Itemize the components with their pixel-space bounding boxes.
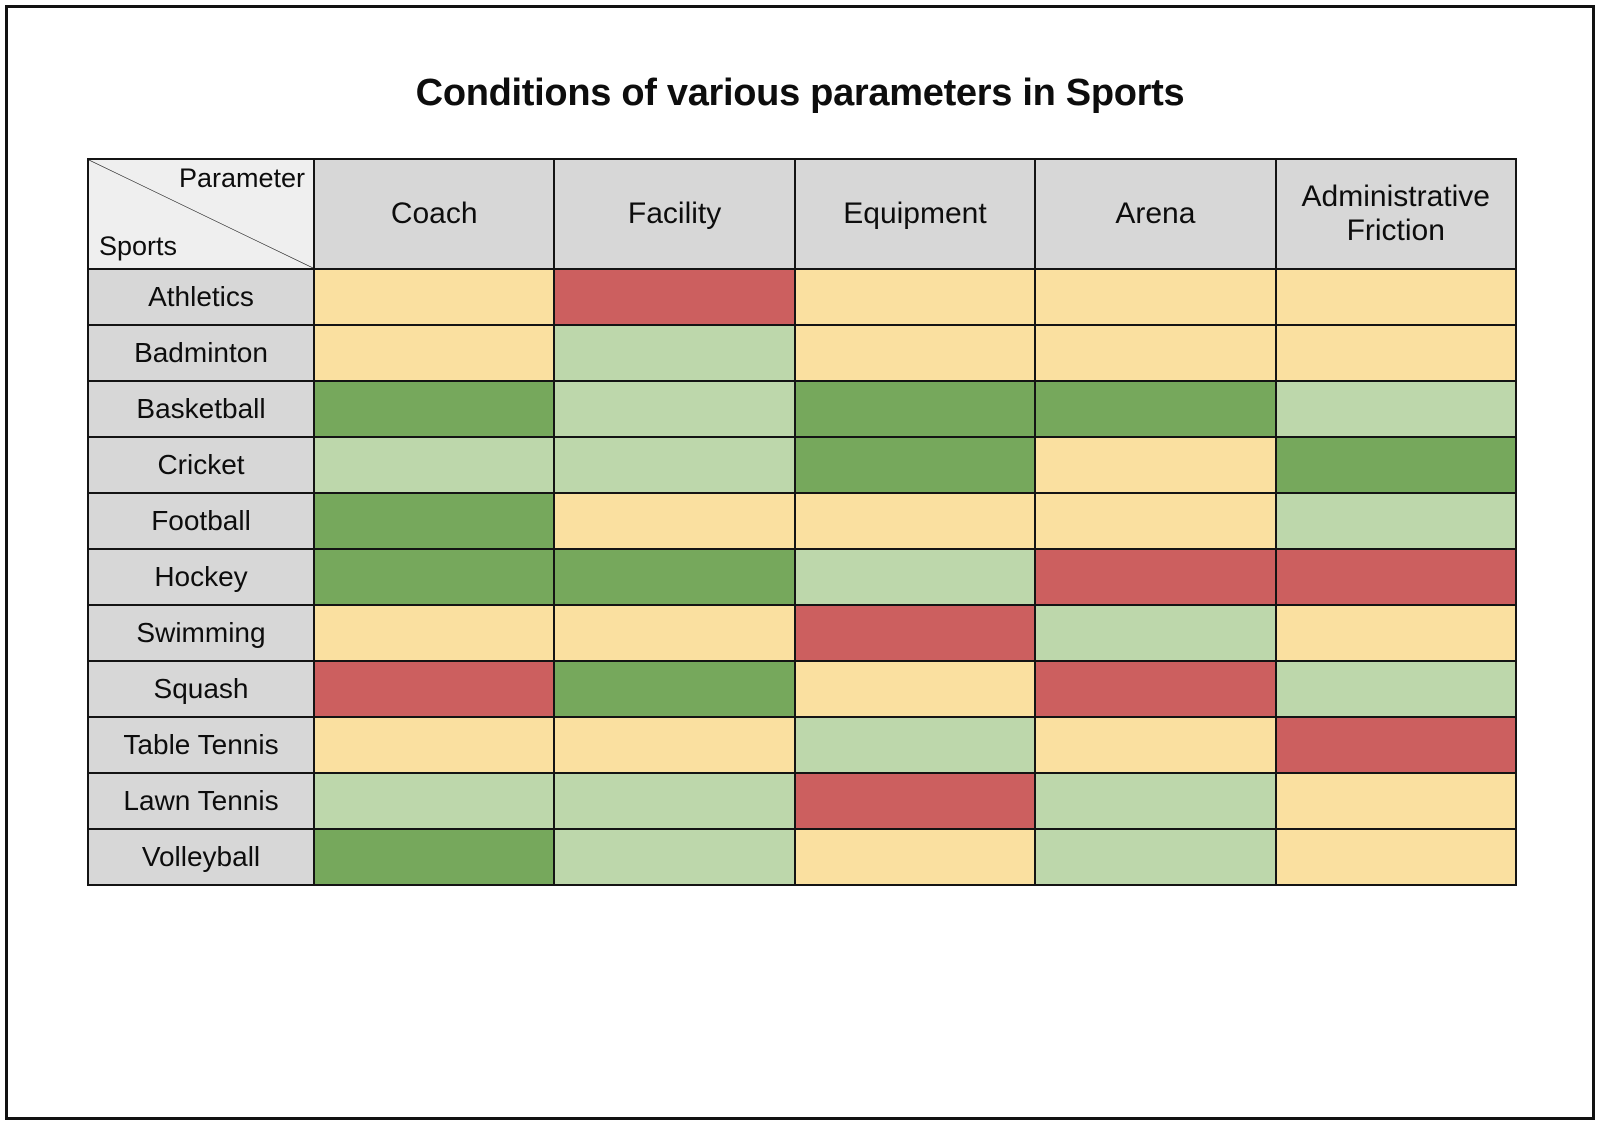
- heatmap-cell: [554, 549, 794, 605]
- corner-parameter-label: Parameter: [179, 164, 305, 194]
- heatmap-cell: [795, 829, 1035, 885]
- heatmap-cell: [314, 325, 554, 381]
- heatmap-cell: [795, 605, 1035, 661]
- heatmap-cell: [1276, 773, 1516, 829]
- heatmap-cell: [1035, 773, 1275, 829]
- heatmap-cell: [314, 437, 554, 493]
- heatmap-cell: [795, 549, 1035, 605]
- column-header-coach: Coach: [314, 159, 554, 269]
- heatmap-cell: [795, 381, 1035, 437]
- heatmap-cell: [795, 717, 1035, 773]
- table-row: Volleyball: [88, 829, 1516, 885]
- heatmap-cell: [1035, 493, 1275, 549]
- heatmap-cell: [554, 437, 794, 493]
- heatmap-cell: [795, 269, 1035, 325]
- heatmap-cell: [1035, 381, 1275, 437]
- row-header-cricket: Cricket: [88, 437, 314, 493]
- chart-canvas: Conditions of various parameters in Spor…: [0, 0, 1600, 1125]
- table-row: Hockey: [88, 549, 1516, 605]
- table-row: Football: [88, 493, 1516, 549]
- heatmap-cell: [1276, 325, 1516, 381]
- row-header-athletics: Athletics: [88, 269, 314, 325]
- heatmap-cell: [1276, 549, 1516, 605]
- row-header-badminton: Badminton: [88, 325, 314, 381]
- heatmap-cell: [795, 325, 1035, 381]
- heatmap-cell: [314, 661, 554, 717]
- conditions-matrix-table: Parameter Sports CoachFacilityEquipmentA…: [87, 158, 1517, 886]
- heatmap-cell: [554, 325, 794, 381]
- heatmap-cell: [1035, 325, 1275, 381]
- legend: [0, 962, 1600, 1072]
- heatmap-cell: [1276, 661, 1516, 717]
- heatmap-cell: [1035, 437, 1275, 493]
- column-header-facility: Facility: [554, 159, 794, 269]
- heatmap-cell: [1035, 829, 1275, 885]
- table-row: Table Tennis: [88, 717, 1516, 773]
- heatmap-cell: [554, 381, 794, 437]
- heatmap-cell: [554, 717, 794, 773]
- row-header-lawn-tennis: Lawn Tennis: [88, 773, 314, 829]
- heatmap-cell: [1276, 717, 1516, 773]
- heatmap-cell: [1276, 605, 1516, 661]
- table-body: AthleticsBadmintonBasketballCricketFootb…: [88, 269, 1516, 885]
- heatmap-cell: [314, 605, 554, 661]
- heatmap-cell: [795, 773, 1035, 829]
- heatmap-cell: [554, 829, 794, 885]
- row-header-basketball: Basketball: [88, 381, 314, 437]
- table-row: Athletics: [88, 269, 1516, 325]
- heatmap-cell: [1276, 269, 1516, 325]
- row-header-hockey: Hockey: [88, 549, 314, 605]
- heatmap-cell: [554, 661, 794, 717]
- heatmap-cell: [314, 717, 554, 773]
- heatmap-cell: [1035, 717, 1275, 773]
- heatmap-cell: [795, 493, 1035, 549]
- heatmap-cell: [314, 829, 554, 885]
- row-header-squash: Squash: [88, 661, 314, 717]
- column-header-administrative-friction: Administrative Friction: [1276, 159, 1516, 269]
- table-row: Basketball: [88, 381, 1516, 437]
- heatmap-cell: [1276, 493, 1516, 549]
- heatmap-cell: [1035, 661, 1275, 717]
- heatmap-cell: [1276, 829, 1516, 885]
- heatmap-cell: [314, 269, 554, 325]
- corner-sports-label: Sports: [99, 232, 177, 262]
- table-row: Lawn Tennis: [88, 773, 1516, 829]
- table-row: Squash: [88, 661, 1516, 717]
- row-header-volleyball: Volleyball: [88, 829, 314, 885]
- heatmap-cell: [1276, 437, 1516, 493]
- heatmap-cell: [554, 605, 794, 661]
- column-header-equipment: Equipment: [795, 159, 1035, 269]
- heatmap-cell: [1276, 381, 1516, 437]
- heatmap-cell: [554, 773, 794, 829]
- table-header-row: Parameter Sports CoachFacilityEquipmentA…: [88, 159, 1516, 269]
- page-title: Conditions of various parameters in Spor…: [0, 72, 1600, 115]
- corner-header-cell: Parameter Sports: [88, 159, 314, 269]
- heatmap-cell: [1035, 549, 1275, 605]
- heatmap-cell: [314, 549, 554, 605]
- row-header-football: Football: [88, 493, 314, 549]
- heatmap-cell: [1035, 269, 1275, 325]
- row-header-table-tennis: Table Tennis: [88, 717, 314, 773]
- heatmap-cell: [314, 773, 554, 829]
- table-header: Parameter Sports CoachFacilityEquipmentA…: [88, 159, 1516, 269]
- heatmap-cell: [795, 661, 1035, 717]
- heatmap-cell: [314, 381, 554, 437]
- heatmap-cell: [1035, 605, 1275, 661]
- column-header-arena: Arena: [1035, 159, 1275, 269]
- table-row: Swimming: [88, 605, 1516, 661]
- table-row: Badminton: [88, 325, 1516, 381]
- heatmap-cell: [795, 437, 1035, 493]
- table-row: Cricket: [88, 437, 1516, 493]
- heatmap-cell: [314, 493, 554, 549]
- heatmap-cell: [554, 493, 794, 549]
- row-header-swimming: Swimming: [88, 605, 314, 661]
- heatmap-cell: [554, 269, 794, 325]
